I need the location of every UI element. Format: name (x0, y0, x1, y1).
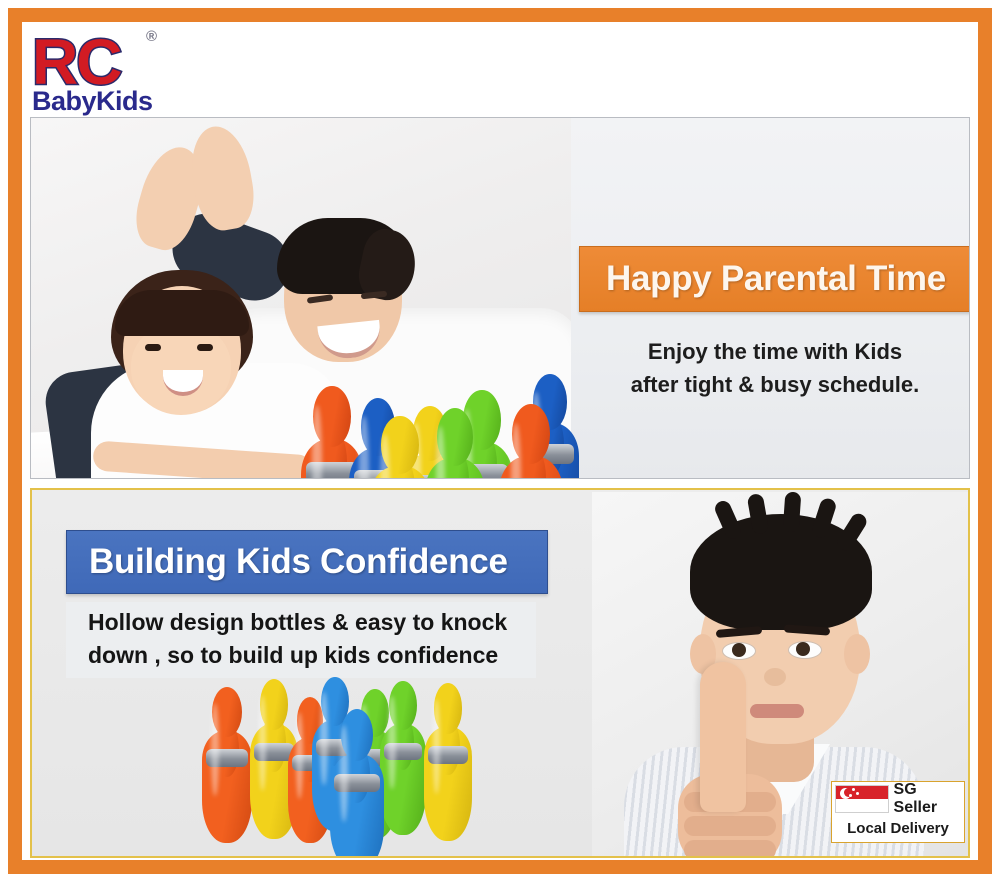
top-subtitle-line1: Enjoy the time with Kids (648, 335, 902, 368)
bowling-pin (330, 709, 384, 858)
bowling-pin (424, 683, 472, 841)
photo-boy-ear-right (844, 634, 870, 674)
pin-highlight (296, 712, 303, 800)
content-area: RC ® BabyKids (22, 22, 978, 860)
sg-seller-badge: SG Seller Local Delivery (831, 781, 965, 843)
top-banner: Happy Parental Time (579, 246, 970, 312)
top-feature-panel: Happy Parental Time Enjoy the time with … (30, 117, 970, 479)
bowling-pins-bottom (202, 675, 502, 850)
singapore-flag-icon (835, 785, 889, 813)
pin-highlight (320, 692, 327, 784)
photo-girl-face (131, 323, 231, 415)
pin-highlight (388, 696, 395, 788)
flag-star-icon (856, 792, 859, 795)
bottom-subtitle-line2: down , so to build up kids confidence (88, 639, 536, 672)
photo-boy-knuckle (684, 840, 776, 856)
photo-boy-knuckle (684, 816, 776, 836)
boy-photo: SG Seller Local Delivery (592, 492, 970, 856)
flag-star-icon (849, 794, 852, 797)
flag-star-icon (852, 788, 855, 791)
photo-boy-pupil-left (732, 643, 746, 657)
photo-boy-mouth (750, 704, 804, 718)
pin-band (504, 478, 558, 479)
bowling-pins-top (301, 368, 591, 479)
bowling-pin (202, 687, 252, 843)
bottom-feature-panel: Building Kids Confidence Hollow design b… (30, 488, 970, 858)
bottom-subtitle: Hollow design bottles & easy to knock do… (66, 602, 536, 678)
sg-local-delivery-label: Local Delivery (832, 815, 964, 842)
bowling-pin (369, 416, 431, 479)
advertisement-root: RC ® BabyKids (0, 0, 1000, 882)
photo-girl-fringe (115, 290, 249, 336)
photo-boy-nose (764, 668, 786, 686)
sg-seller-label: SG Seller (894, 781, 964, 817)
brand-logo[interactable]: RC ® BabyKids (22, 22, 322, 117)
registered-trademark-icon: ® (146, 28, 157, 45)
photo-boy-thumbs-up (700, 662, 746, 812)
bottom-banner-title: Building Kids Confidence (89, 542, 508, 582)
photo-girl-eye-left (145, 344, 161, 351)
photo-child-feet (141, 126, 291, 246)
logo-babykids-text: BabyKids (32, 88, 153, 115)
bottom-banner: Building Kids Confidence (66, 530, 548, 594)
bowling-pin (425, 408, 485, 479)
bowling-pin (380, 681, 426, 835)
photo-girl-eye-right (197, 344, 213, 351)
pin-highlight (211, 703, 219, 797)
photo-boy-pupil-right (796, 642, 810, 656)
sg-badge-top-row: SG Seller (832, 782, 964, 815)
top-banner-title: Happy Parental Time (606, 259, 946, 299)
flag-crescent-icon (840, 788, 851, 799)
photo-boy-hair-spike (783, 492, 802, 533)
bowling-pin (499, 404, 563, 479)
top-subtitle-line2: after tight & busy schedule. (631, 368, 920, 401)
flag-red-band (836, 786, 888, 799)
bottom-subtitle-line1: Hollow design bottles & easy to knock (88, 606, 536, 639)
top-subtitle: Enjoy the time with Kids after tight & b… (579, 323, 970, 413)
logo-rc-text: RC (32, 30, 120, 94)
